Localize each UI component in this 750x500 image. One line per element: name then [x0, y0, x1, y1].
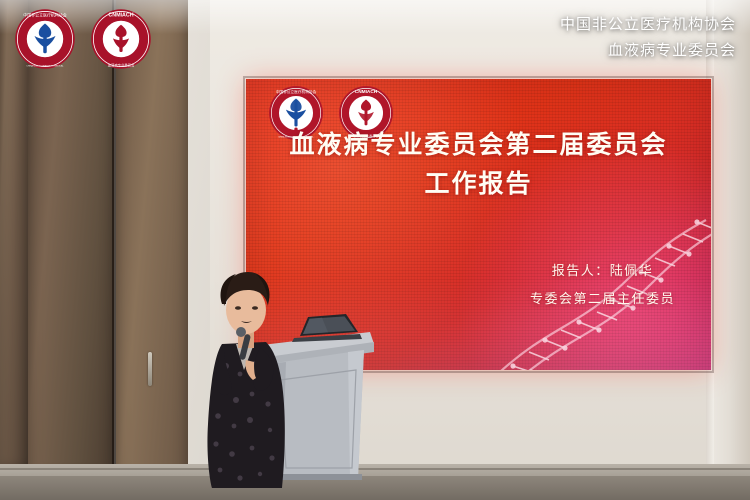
svg-text:CHINA NON-GOVERNMENT MEDICAL: CHINA NON-GOVERNMENT MEDICAL: [26, 64, 64, 67]
caption-line-1: 中国非公立医疗机构协会: [560, 12, 736, 38]
slide-title: 血液病专业委员会第二届委员会 工作报告: [246, 127, 711, 205]
cnmia-emblem-overlay: 中国非公立医疗机构协会 CHINA NON-GOVERNMENT MEDICAL: [14, 8, 76, 70]
slide-title-line-2: 工作报告: [246, 165, 711, 205]
svg-text:血液病专业委员会: 血液病专业委员会: [108, 62, 135, 67]
slide-presenter-name: 报告人：陆佩华: [530, 257, 675, 285]
svg-text:中国非公立医疗机构协会: 中国非公立医疗机构协会: [23, 12, 67, 17]
photo-scene: 中国非公立医疗机构协会 CHINA NON-GOVERNMENT MEDICAL: [0, 0, 750, 500]
cnmiach-emblem-overlay: CNMIACH 血液病专业委员会: [90, 8, 152, 70]
door-panel-left: [0, 0, 28, 470]
caption-line-2: 血液病专业委员会: [560, 38, 736, 64]
door-panel-right: [116, 0, 188, 482]
photo-caption: 中国非公立医疗机构协会 血液病专业委员会: [560, 12, 736, 64]
svg-text:CNMIACH: CNMIACH: [108, 12, 133, 18]
slide-presenter-role: 专委会第二届主任委员: [530, 285, 675, 313]
presenter: [196, 248, 316, 488]
wall-emblems: 中国非公立医疗机构协会 CHINA NON-GOVERNMENT MEDICAL…: [14, 8, 152, 70]
slide-title-line-1: 血液病专业委员会第二届委员会: [246, 127, 711, 165]
slide-presenter-block: 报告人：陆佩华 专委会第二届主任委员: [530, 257, 675, 313]
right-wall: [714, 0, 750, 500]
svg-text:CNMIACH: CNMIACH: [355, 89, 378, 95]
svg-text:中国非公立医疗机构协会: 中国非公立医疗机构协会: [276, 89, 317, 94]
door-handle: [148, 352, 152, 386]
door-panel-middle: [28, 0, 114, 478]
laptop: [288, 308, 366, 342]
